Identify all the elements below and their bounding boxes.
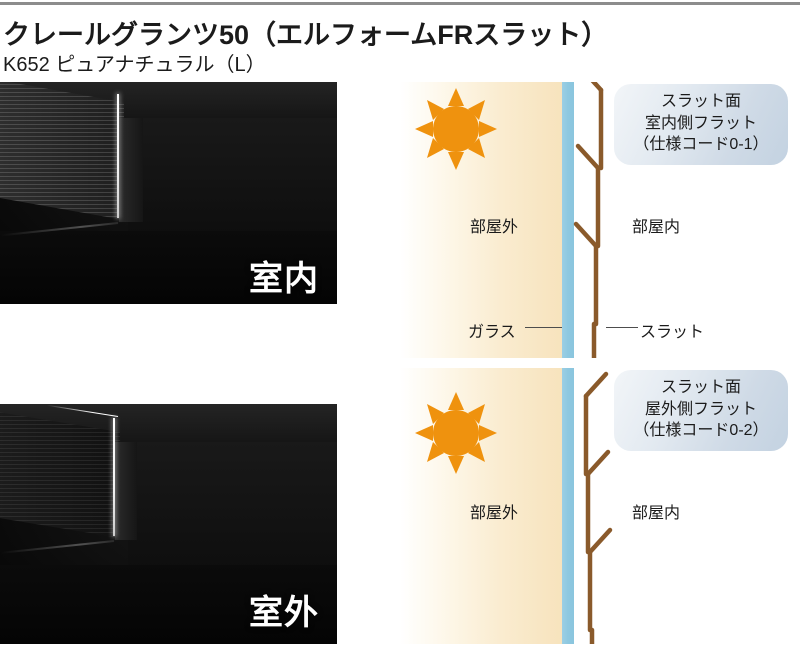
callout-line-1: スラット面 <box>618 377 784 399</box>
callout-line-3: （仕様コード0-2） <box>618 420 784 442</box>
venetian-blind-panel <box>0 412 120 538</box>
outside-room-label: 部屋外 <box>470 213 518 237</box>
venetian-blind-panel <box>0 82 124 220</box>
inside-room-label: 部屋内 <box>632 499 680 523</box>
indoor-photo-label: 室内 <box>249 262 319 296</box>
window-jamb <box>119 118 143 222</box>
page-root: クレールグランツ50（エルフォームFRスラット） K652 ピュアナチュラル（L… <box>0 0 800 654</box>
page-title: クレールグランツ50（エルフォームFRスラット） <box>3 20 643 50</box>
callout-line-2: 屋外側フラット <box>618 399 784 421</box>
glass-label: ガラス <box>468 318 516 342</box>
indoor-photo: 室内 <box>0 82 337 304</box>
window-edge-highlight <box>117 94 119 218</box>
outdoor-photo: 室外 <box>0 404 337 644</box>
page-subtitle: K652 ピュアナチュラル（L） <box>3 53 643 77</box>
slat-leader-line <box>606 327 638 328</box>
sun-icon <box>415 392 497 474</box>
callout-box-0-1: スラット面 室内側フラット （仕様コード0-1） <box>614 84 788 165</box>
inside-room-label: 部屋内 <box>632 213 680 237</box>
slat-diagram-0-1: 部屋外 部屋内 ガラス スラット スラット面 室内側フラット （仕様コード0-1… <box>400 82 800 358</box>
window-edge-highlight <box>113 418 115 536</box>
callout-line-2: 室内側フラット <box>618 113 784 135</box>
callout-box-0-2: スラット面 屋外側フラット （仕様コード0-2） <box>614 370 788 451</box>
glass-leader-line <box>525 327 562 328</box>
slat-profile <box>576 82 601 358</box>
outdoor-photo-label: 室外 <box>249 596 319 630</box>
callout-line-1: スラット面 <box>618 91 784 113</box>
sun-icon <box>415 88 497 170</box>
callout-line-3: （仕様コード0-1） <box>618 134 784 156</box>
slat-label: スラット <box>640 318 704 342</box>
top-divider-rule <box>0 2 800 5</box>
slat-profile <box>586 374 610 644</box>
window-jamb <box>115 442 137 540</box>
slat-diagram-0-2: 部屋外 部屋内 スラット面 屋外側フラット （仕様コード0-2） <box>400 368 800 644</box>
page-heading: クレールグランツ50（エルフォームFRスラット） K652 ピュアナチュラル（L… <box>3 20 643 77</box>
outside-room-label: 部屋外 <box>470 499 518 523</box>
